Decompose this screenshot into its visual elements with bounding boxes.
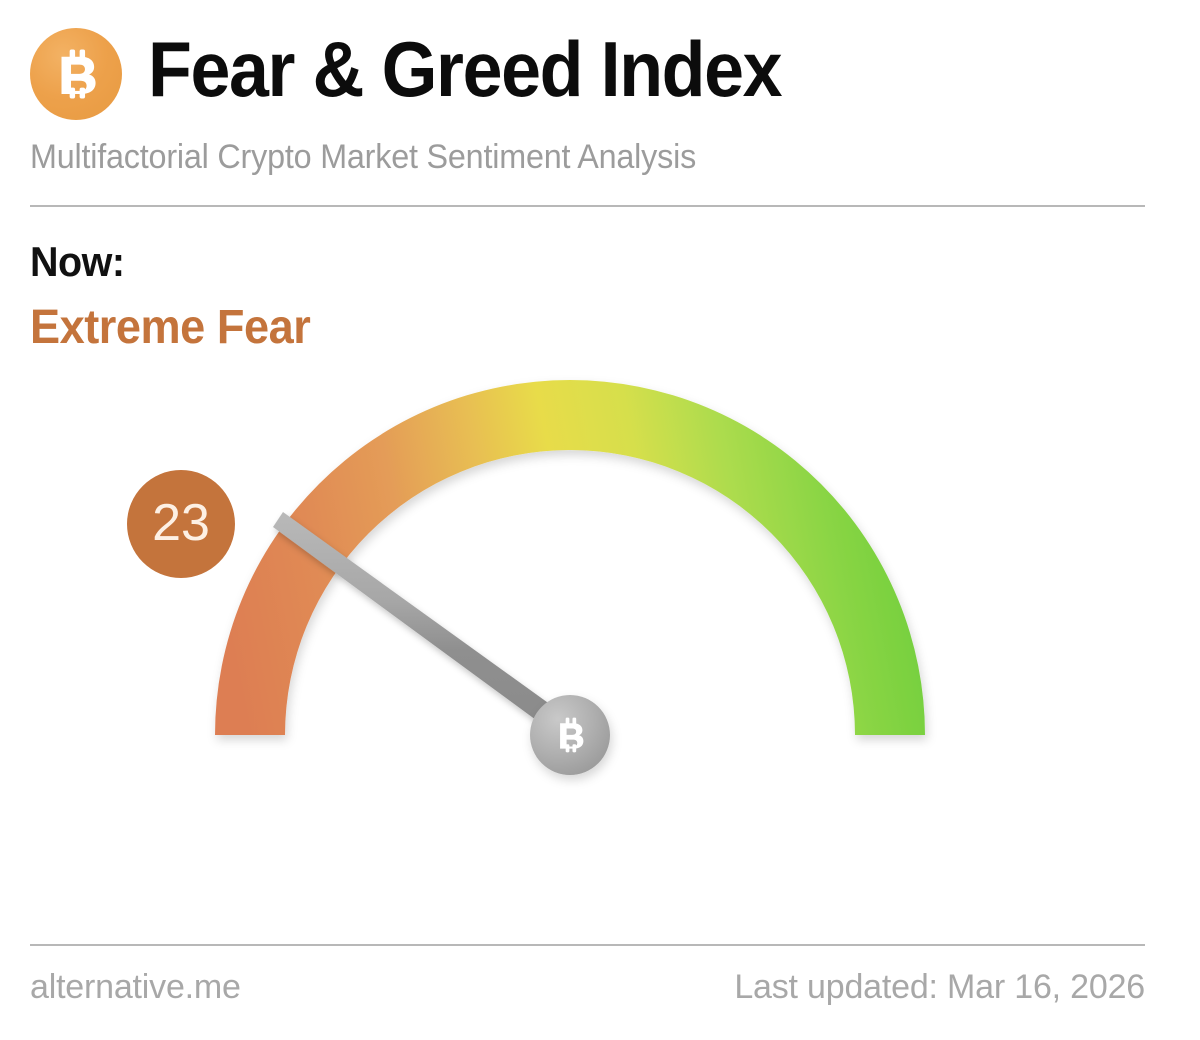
page-title: Fear & Greed Index <box>148 26 781 112</box>
last-updated-label: Last updated: Mar 16, 2026 <box>734 968 1145 1007</box>
header: Fear & Greed Index <box>30 26 1145 120</box>
value-badge-number: 23 <box>152 497 210 549</box>
bitcoin-icon <box>30 28 122 120</box>
gauge-hub <box>530 695 610 775</box>
page-subtitle: Multifactorial Crypto Market Sentiment A… <box>30 138 696 177</box>
source-label[interactable]: alternative.me <box>30 968 241 1007</box>
value-badge: 23 <box>127 470 235 578</box>
fear-greed-index-card: Fear & Greed Index Multifactorial Crypto… <box>0 0 1200 1040</box>
header-divider <box>30 205 1145 207</box>
gauge-chart <box>0 345 1200 920</box>
gauge-needle <box>273 512 576 742</box>
now-label: Now: <box>30 238 125 286</box>
footer-divider <box>30 944 1145 946</box>
